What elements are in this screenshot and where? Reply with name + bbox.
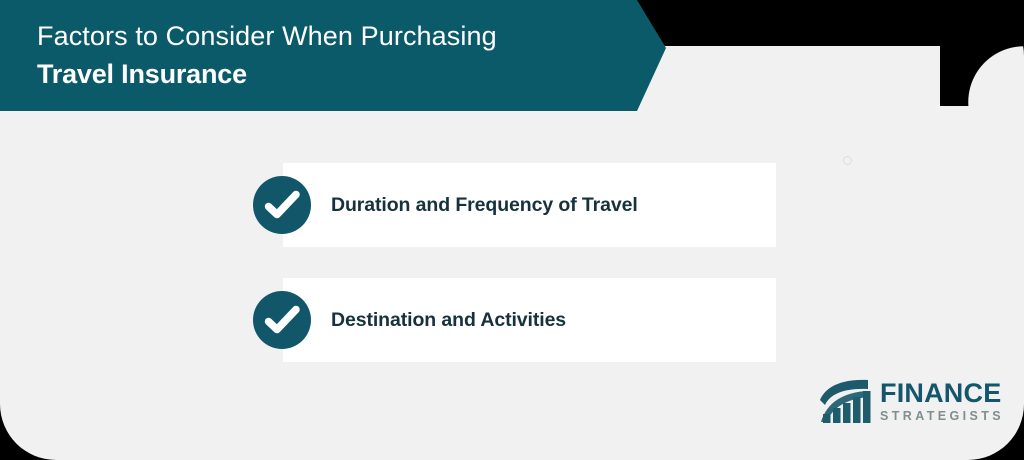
page-title-line-2: Travel Insurance [37,55,637,93]
logo-wordmark: FINANCE STRATEGISTS [880,380,1004,424]
feature-label: Destination and Activities [331,278,566,362]
list-item: Destination and Activities [253,278,776,362]
logo-primary-text: FINANCE [880,380,1004,407]
brand-logo: FINANCE STRATEGISTS [818,378,1004,426]
check-circle-icon [253,291,311,349]
feature-list: Duration and Frequency of Travel Destina… [253,163,776,393]
top-black-notch [600,0,1024,46]
decorative-dot-icon [843,156,852,165]
page-title: Factors to Consider When Purchasing Trav… [37,17,637,93]
page-title-line-1: Factors to Consider When Purchasing [37,17,637,55]
bar-chart-arc-icon [818,378,874,429]
check-circle-icon [253,176,311,234]
header-banner: Factors to Consider When Purchasing Trav… [0,0,666,111]
feature-label: Duration and Frequency of Travel [331,163,638,247]
list-item: Duration and Frequency of Travel [253,163,776,247]
logo-secondary-text: STRATEGISTS [880,409,1004,424]
